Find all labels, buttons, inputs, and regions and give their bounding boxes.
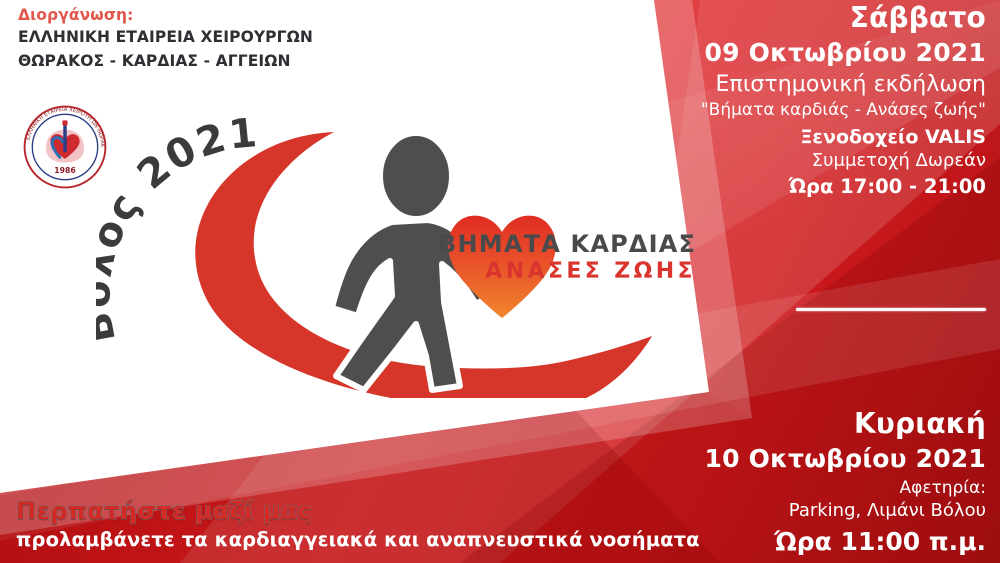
saturday-time: Ώρα 17:00 - 21:00 (656, 176, 986, 199)
wordmark-line-2: ΑΝΑΣΕΣ ΖΩΗΣ (438, 258, 698, 286)
organizer-line-2: ΘΩΡΑΚΟΣ - ΚΑΡΔΙΑΣ - ΑΓΓΕΙΩΝ (18, 50, 438, 73)
saturday-date: 09 Οκτωβρίου 2021 (656, 38, 986, 67)
wordmark-line-1: ΒΗΜΑΤΑ ΚΑΡΔΙΑΣ (438, 230, 698, 258)
saturday-event: Επιστημονική εκδήλωση (656, 72, 986, 98)
organizer-line-1: ΕΛΛΗΝΙΚΗ ΕΤΑΙΡΕΙΑ ΧΕΙΡΟΥΡΓΩΝ (18, 26, 438, 49)
slogan-block: Περπατήστε μαζί μας προλαμβάνετε τα καρδ… (16, 498, 676, 552)
sunday-time: Ώρα 11:00 π.μ. (656, 527, 986, 556)
sunday-start-place: Parking, Λιμάνι Βόλου (656, 501, 986, 522)
sunday-start-label: Αφετηρία: (656, 479, 986, 499)
emblem-year: 1986 (54, 166, 76, 175)
section-divider-rule (796, 308, 986, 311)
slogan-line-1: Περπατήστε μαζί μας (16, 498, 676, 525)
saturday-venue: Ξενοδοχείο VALIS (656, 126, 986, 148)
sunday-date: 10 Οκτωβρίου 2021 (656, 444, 986, 473)
event-poster: Διοργάνωση: ΕΛΛΗΝΙΚΗ ΕΤΑΙΡΕΙΑ ΧΕΙΡΟΥΡΓΩΝ… (0, 0, 1000, 563)
saturday-quote: "Βήματα καρδιάς - Ανάσες ζωής" (656, 101, 986, 121)
event-info-sunday: Κυριακή 10 Οκτωβρίου 2021 Αφετηρία: Park… (656, 408, 986, 556)
organizer-lead-label: Διοργάνωση: (18, 4, 438, 26)
saturday-day: Σάββατο (656, 2, 986, 34)
event-info-saturday: Σάββατο 09 Οκτωβρίου 2021 Επιστημονική ε… (656, 2, 986, 198)
saturday-fee: Συμμετοχή Δωρεάν (656, 151, 986, 172)
organizer-block: Διοργάνωση: ΕΛΛΗΝΙΚΗ ΕΤΑΙΡΕΙΑ ΧΕΙΡΟΥΡΓΩΝ… (18, 4, 438, 73)
logo-wordmark: ΒΗΜΑΤΑ ΚΑΡΔΙΑΣ ΑΝΑΣΕΣ ΖΩΗΣ (438, 230, 698, 286)
sunday-day: Κυριακή (656, 408, 986, 440)
slogan-line-2: προλαμβάνετε τα καρδιαγγειακά και αναπνε… (16, 528, 676, 552)
